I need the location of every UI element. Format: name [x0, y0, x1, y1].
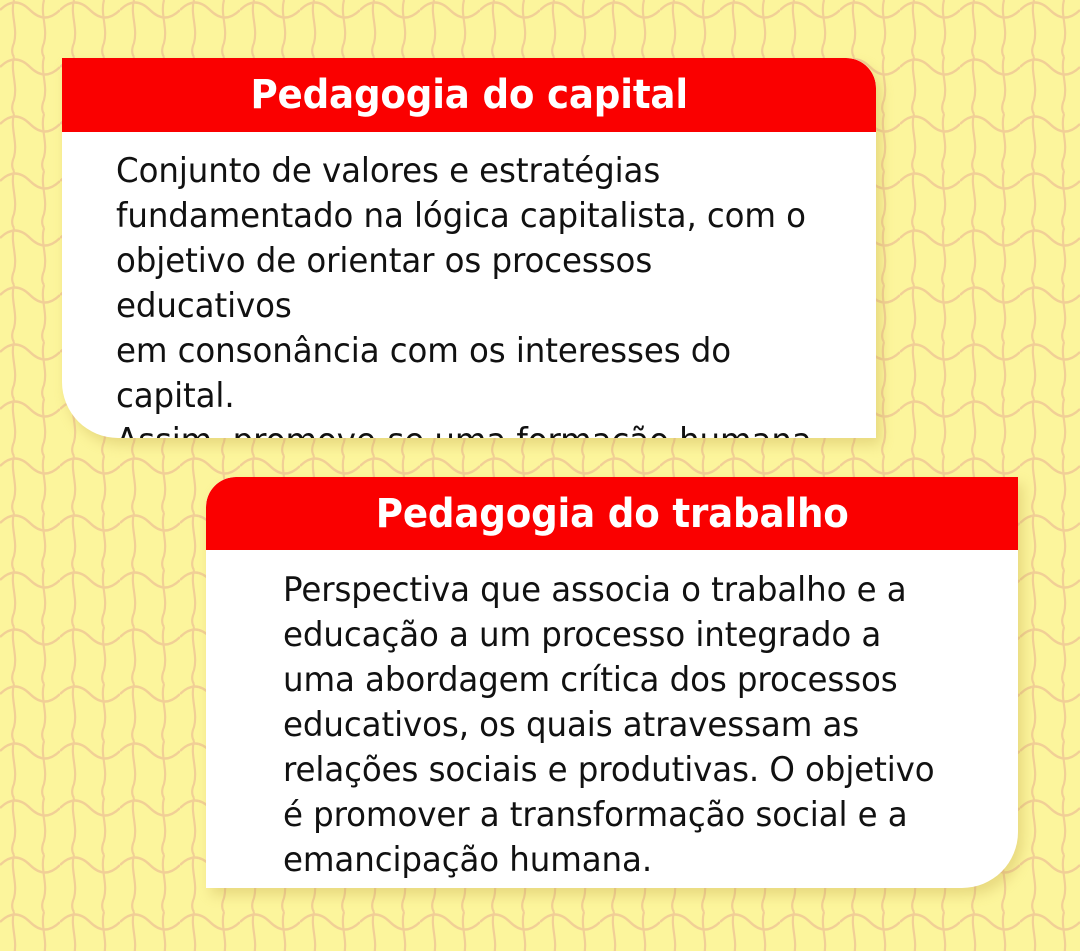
card-body-line: uma abordagem crítica dos processos [283, 658, 962, 703]
card-header-pedagogia-do-trabalho: Pedagogia do trabalho [206, 477, 1018, 550]
card-body-pedagogia-do-capital: Conjunto de valores e estratégias fundam… [62, 132, 876, 438]
card-body-line: Assim, promove-se uma formação humana [116, 419, 819, 438]
card-body-line: Perspectiva que associa o trabalho e a [283, 568, 962, 613]
card-body-line: educação a um processo integrado a [283, 613, 962, 658]
card-stack: Pedagogia do capital Conjunto de valores… [0, 0, 1080, 951]
card-header-pedagogia-do-capital: Pedagogia do capital [62, 58, 876, 132]
card-body-line: educativos, os quais atravessam as [283, 703, 962, 748]
card-body-line: fundamentado na lógica capitalista, com … [116, 194, 819, 239]
card-pedagogia-do-trabalho[interactable]: Pedagogia do trabalho Perspectiva que as… [206, 477, 1018, 888]
card-body-line: em consonância com os interesses do capi… [116, 329, 819, 419]
card-title-pedagogia-do-capital: Pedagogia do capital [250, 75, 687, 115]
card-body-line: Conjunto de valores e estratégias [116, 149, 819, 194]
card-body-line: objetivo de orientar os processos educat… [116, 239, 819, 329]
card-pedagogia-do-capital[interactable]: Pedagogia do capital Conjunto de valores… [62, 58, 876, 438]
card-body-line: emancipação humana. [283, 838, 962, 883]
card-title-pedagogia-do-trabalho: Pedagogia do trabalho [376, 494, 849, 534]
card-body-line: é promover a transformação social e a [283, 793, 962, 838]
card-body-line: relações sociais e produtivas. O objetiv… [283, 748, 962, 793]
card-body-pedagogia-do-trabalho: Perspectiva que associa o trabalho e a e… [206, 550, 1018, 883]
